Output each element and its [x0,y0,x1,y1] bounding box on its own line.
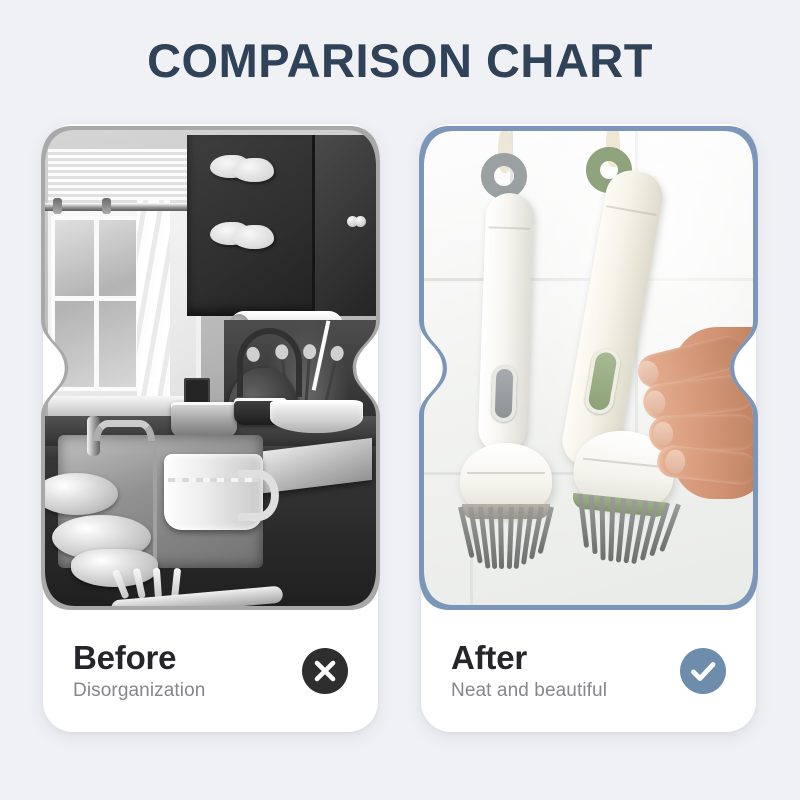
comparison-card-before[interactable]: Before Disorganization [43,124,378,732]
brush-bristles-gray [458,507,554,569]
hand-holding-brush [635,319,753,509]
pump-button-gray [490,364,518,422]
comparison-card-after[interactable]: After Neat and beautiful [421,124,756,732]
after-image-frame [419,126,758,610]
pump-button-green [582,346,623,416]
before-title: Before [73,640,205,676]
check-icon [680,648,726,694]
brush-head-gray [460,443,552,515]
brush-handle-gray [477,192,534,454]
after-title: After [451,640,607,676]
before-caption: Before Disorganization [43,610,378,732]
after-caption: After Neat and beautiful [421,610,756,732]
after-subtitle: Neat and beautiful [451,680,607,702]
page-title: COMPARISON CHART [0,36,800,85]
before-image-frame [41,126,380,610]
hanging-ring-gray [481,153,527,199]
status-badge-check [680,648,726,694]
before-subtitle: Disorganization [73,680,205,702]
status-badge-cross [302,648,348,694]
after-photo-brushes [424,131,753,605]
after-caption-text: After Neat and beautiful [451,640,607,701]
comparison-cards: Before Disorganization [0,124,800,744]
before-caption-text: Before Disorganization [73,640,205,701]
before-photo-kitchen [45,130,376,606]
cross-icon [302,648,348,694]
